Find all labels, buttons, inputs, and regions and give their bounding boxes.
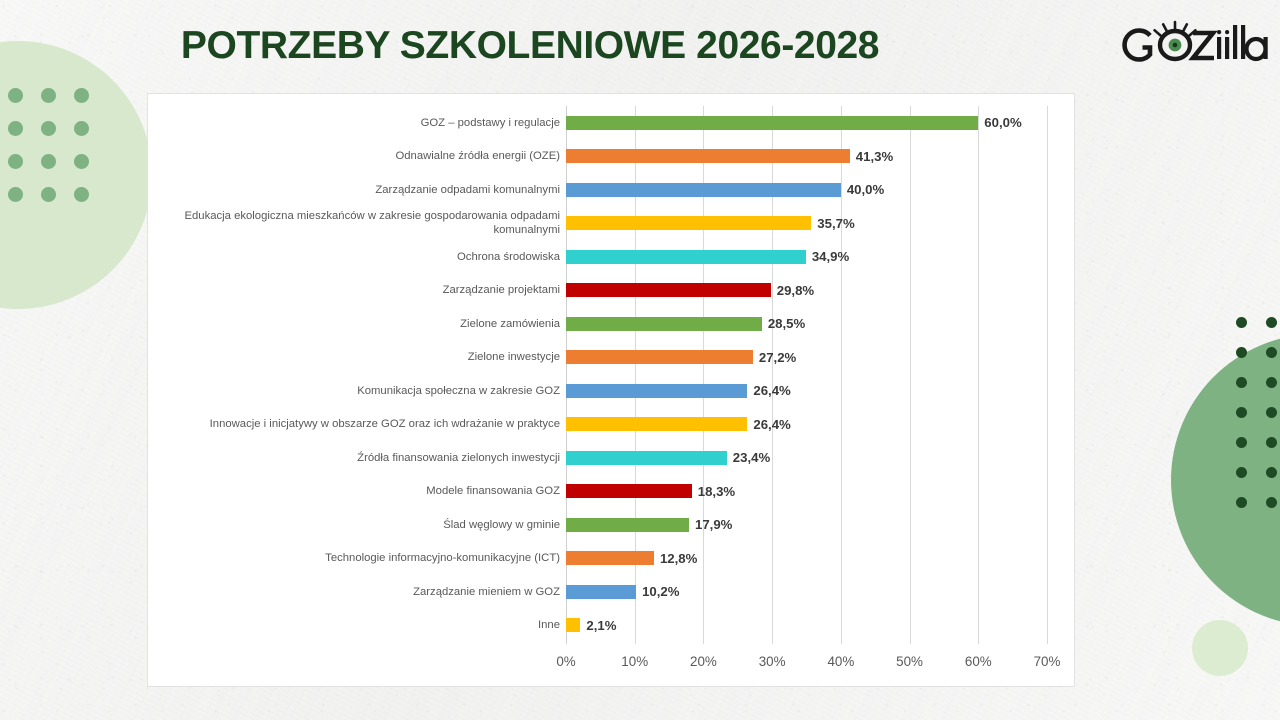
category-label: Ślad węglowy w gminie	[150, 518, 560, 532]
x-axis-tick-label: 40%	[827, 654, 854, 669]
bar-row: Zielone inwestycje27,2%	[566, 341, 1047, 375]
bar-row: Zarządzanie mieniem w GOZ10,2%	[566, 575, 1047, 609]
decorative-dot	[1236, 467, 1247, 478]
bar-value-label: 40,0%	[847, 182, 884, 197]
decorative-dot	[41, 121, 56, 136]
bar[interactable]	[566, 116, 978, 130]
bar-row: Ochrona środowiska34,9%	[566, 240, 1047, 274]
bar[interactable]	[566, 618, 580, 632]
decorative-dot	[1236, 497, 1247, 508]
decorative-dot	[1236, 317, 1247, 328]
decorative-dot-grid-right	[1236, 317, 1280, 527]
bar-row: Edukacja ekologiczna mieszkańców w zakre…	[566, 207, 1047, 241]
bar[interactable]	[566, 451, 727, 465]
gozilla-logo	[1117, 16, 1269, 72]
bar-row: Zarządzanie projektami29,8%	[566, 274, 1047, 308]
category-label: Zielone zamówienia	[150, 317, 560, 331]
decorative-dot	[74, 187, 89, 202]
bar-value-label: 35,7%	[817, 216, 854, 231]
chart-container: GOZ – podstawy i regulacje60,0%Odnawialn…	[147, 93, 1075, 687]
bar-value-label: 18,3%	[698, 484, 735, 499]
bar[interactable]	[566, 216, 811, 230]
decorative-dot	[1236, 407, 1247, 418]
bar-row: Źródła finansowania zielonych inwestycji…	[566, 441, 1047, 475]
bar[interactable]	[566, 484, 692, 498]
bar-row: Innowacje i inicjatywy w obszarze GOZ or…	[566, 408, 1047, 442]
decorative-dot	[74, 121, 89, 136]
eyelash-icon	[1155, 22, 1196, 35]
decorative-dot	[8, 187, 23, 202]
bar[interactable]	[566, 551, 654, 565]
decorative-dot	[1266, 467, 1277, 478]
decorative-dot	[1266, 407, 1277, 418]
bar-value-label: 17,9%	[695, 517, 732, 532]
decorative-dot	[8, 154, 23, 169]
bar[interactable]	[566, 283, 771, 297]
category-label: Ochrona środowiska	[150, 250, 560, 264]
x-axis-tick-label: 20%	[690, 654, 717, 669]
bar-row: Zielone zamówienia28,5%	[566, 307, 1047, 341]
bar[interactable]	[566, 384, 747, 398]
bar-value-label: 29,8%	[777, 283, 814, 298]
bar-value-label: 2,1%	[586, 618, 616, 633]
decorative-dot	[74, 154, 89, 169]
decorative-dot	[8, 121, 23, 136]
bar[interactable]	[566, 317, 762, 331]
category-label: Zielone inwestycje	[150, 350, 560, 364]
decorative-dot	[1236, 377, 1247, 388]
bar-value-label: 34,9%	[812, 249, 849, 264]
bar[interactable]	[566, 518, 689, 532]
bar-value-label: 60,0%	[984, 115, 1021, 130]
decorative-dot	[1236, 347, 1247, 358]
decorative-dot-grid-left	[8, 88, 107, 220]
decorative-dot	[1266, 347, 1277, 358]
bar[interactable]	[566, 183, 841, 197]
bar-value-label: 10,2%	[642, 584, 679, 599]
bar-value-label: 27,2%	[759, 350, 796, 365]
x-axis-tick-label: 70%	[1034, 654, 1061, 669]
x-axis-tick-label: 10%	[621, 654, 648, 669]
category-label: Technologie informacyjno-komunikacyjne (…	[150, 551, 560, 565]
category-label: Innowacje i inicjatywy w obszarze GOZ or…	[150, 417, 560, 431]
page-title: POTRZEBY SZKOLENIOWE 2026-2028	[0, 24, 1060, 68]
bar-row: Zarządzanie odpadami komunalnymi40,0%	[566, 173, 1047, 207]
category-label: GOZ – podstawy i regulacje	[150, 116, 560, 130]
category-label: Odnawialne źródła energii (OZE)	[150, 149, 560, 163]
decorative-dot	[1266, 377, 1277, 388]
gridline	[1047, 106, 1048, 644]
x-axis-tick-label: 50%	[896, 654, 923, 669]
category-label: Zarządzanie mieniem w GOZ	[150, 585, 560, 599]
category-label: Inne	[150, 618, 560, 632]
bar[interactable]	[566, 585, 636, 599]
bar[interactable]	[566, 350, 753, 364]
bar-row: Komunikacja społeczna w zakresie GOZ26,4…	[566, 374, 1047, 408]
x-axis-tick-label: 60%	[965, 654, 992, 669]
bar-value-label: 41,3%	[856, 149, 893, 164]
bar-row: Inne2,1%	[566, 609, 1047, 643]
decorative-dot	[41, 154, 56, 169]
bar-value-label: 26,4%	[753, 383, 790, 398]
slide-canvas: POTRZEBY SZKOLENIOWE 2026-2028	[0, 0, 1280, 720]
bar-value-label: 26,4%	[753, 417, 790, 432]
decorative-dot	[1266, 317, 1277, 328]
bar[interactable]	[566, 250, 806, 264]
bar-rows: GOZ – podstawy i regulacje60,0%Odnawialn…	[566, 106, 1047, 644]
category-label: Zarządzanie odpadami komunalnymi	[150, 183, 560, 197]
category-label: Zarządzanie projektami	[150, 283, 560, 297]
decorative-dot	[41, 88, 56, 103]
plot-area: GOZ – podstawy i regulacje60,0%Odnawialn…	[566, 106, 1047, 644]
category-label: Źródła finansowania zielonych inwestycji	[150, 451, 560, 465]
decorative-circle-right-small	[1192, 620, 1248, 676]
decorative-dot	[41, 187, 56, 202]
category-label: Modele finansowania GOZ	[150, 484, 560, 498]
bar-row: GOZ – podstawy i regulacje60,0%	[566, 106, 1047, 140]
bar-row: Technologie informacyjno-komunikacyjne (…	[566, 542, 1047, 576]
decorative-dot	[1236, 437, 1247, 448]
bar-value-label: 23,4%	[733, 450, 770, 465]
decorative-dot	[1266, 497, 1277, 508]
x-axis-ticks: 0%10%20%30%40%50%60%70%	[566, 654, 1047, 672]
category-label: Edukacja ekologiczna mieszkańców w zakre…	[150, 209, 560, 238]
decorative-dot	[8, 88, 23, 103]
category-label: Komunikacja społeczna w zakresie GOZ	[150, 384, 560, 398]
x-axis-tick-label: 30%	[759, 654, 786, 669]
bar-value-label: 12,8%	[660, 551, 697, 566]
bar[interactable]	[566, 417, 747, 431]
bar[interactable]	[566, 149, 850, 163]
decorative-dot	[74, 88, 89, 103]
x-axis-tick-label: 0%	[556, 654, 575, 669]
bar-row: Modele finansowania GOZ18,3%	[566, 475, 1047, 509]
bar-value-label: 28,5%	[768, 316, 805, 331]
decorative-dot	[1266, 437, 1277, 448]
bar-row: Odnawialne źródła energii (OZE)41,3%	[566, 140, 1047, 174]
bar-row: Ślad węglowy w gminie17,9%	[566, 508, 1047, 542]
